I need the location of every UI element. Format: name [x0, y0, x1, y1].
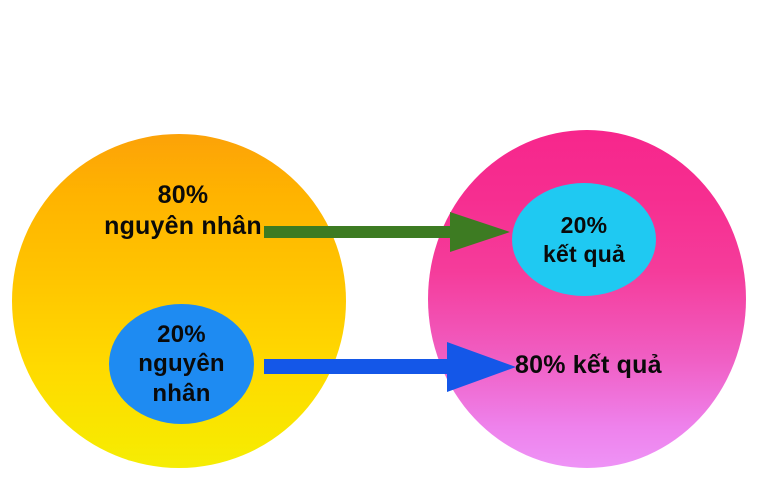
result-major-label: 80% kết quả [515, 350, 715, 381]
result-minor-circle: 20% kết quả [512, 183, 656, 296]
cause-minor-label: 20% nguyên nhân [109, 320, 254, 408]
result-minor-label: 20% kết quả [543, 211, 625, 267]
result-major-circle [428, 130, 746, 468]
green-arrow-icon [264, 206, 510, 258]
blue-arrow-shape [264, 342, 516, 392]
blue-arrow-icon [264, 340, 516, 394]
cause-major-label: 80% nguyên nhân [103, 180, 263, 241]
green-arrow-shape [264, 212, 510, 252]
cause-minor-circle: 20% nguyên nhân [109, 304, 254, 424]
diagram-canvas: 80% nguyên nhân 20% nguyên nhân 20% kết … [0, 0, 769, 485]
